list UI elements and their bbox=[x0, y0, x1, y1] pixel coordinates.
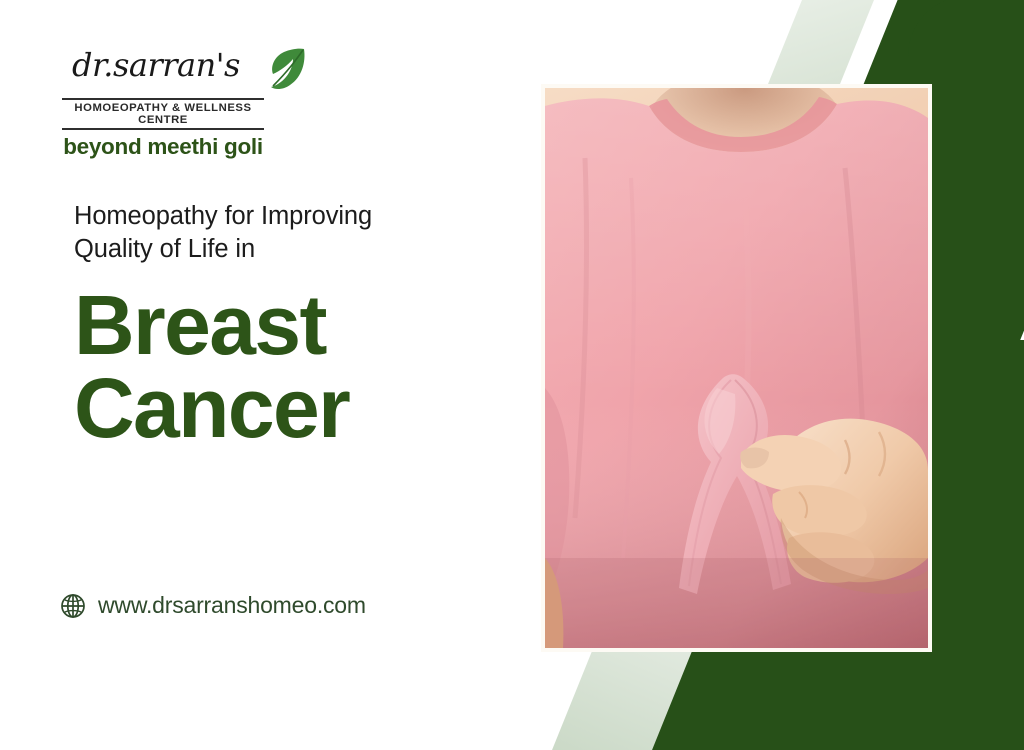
globe-icon bbox=[60, 593, 86, 619]
headline-kicker-line-2: Quality of Life in bbox=[74, 233, 504, 266]
leaf-icon bbox=[266, 46, 308, 94]
logo-script-row: dr.sarran's bbox=[62, 44, 322, 98]
page-title: Breast Cancer bbox=[74, 284, 504, 450]
brand-script-name: dr.sarran's bbox=[72, 46, 240, 84]
headline-kicker: Homeopathy for Improving Quality of Life… bbox=[74, 200, 504, 266]
brand-tagline: HOMOEOPATHY & WELLNESS CENTRE bbox=[62, 98, 264, 130]
page-title-line-2: Cancer bbox=[74, 367, 504, 450]
website-url-text: www.drsarranshomeo.com bbox=[98, 592, 366, 619]
brand-logo: dr.sarran's HOMOEOPATHY & WELLNESS CENTR… bbox=[62, 44, 322, 160]
headline-kicker-line-1: Homeopathy for Improving bbox=[74, 200, 504, 233]
page-title-line-1: Breast bbox=[74, 284, 504, 367]
headline-block: Homeopathy for Improving Quality of Life… bbox=[74, 200, 504, 451]
poster-canvas: dr.sarran's HOMOEOPATHY & WELLNESS CENTR… bbox=[0, 0, 1024, 750]
decoration-green-block-right bbox=[928, 340, 1024, 750]
hero-photo-frame bbox=[541, 84, 932, 652]
hero-photo bbox=[545, 88, 928, 648]
website-link[interactable]: www.drsarranshomeo.com bbox=[60, 592, 366, 619]
brand-slogan: beyond meethi goli bbox=[62, 134, 264, 160]
